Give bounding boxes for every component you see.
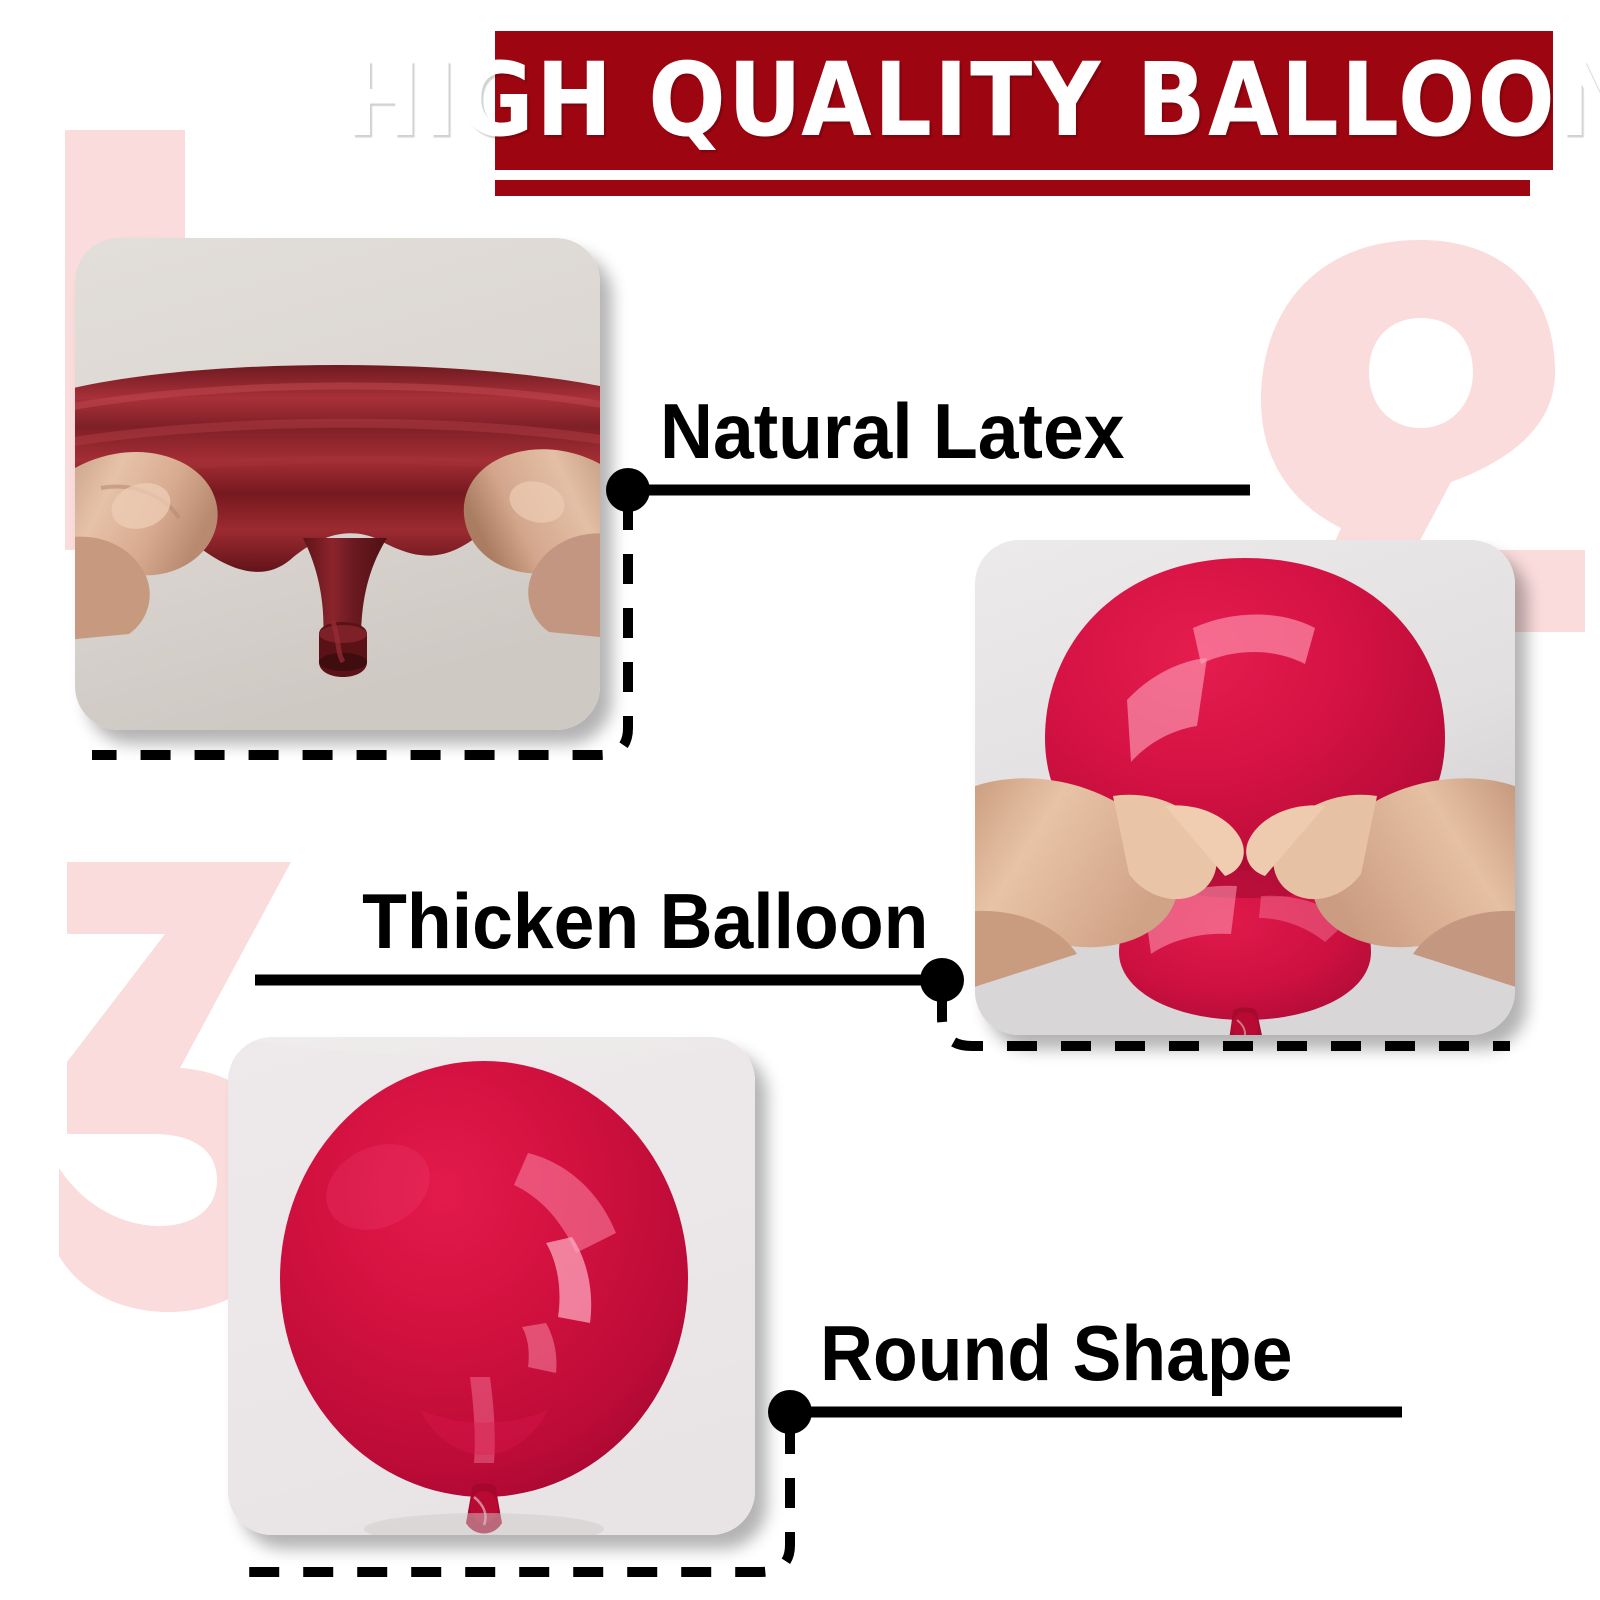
banner-title: HIGH QUALITY BALLOONS [345, 50, 1600, 151]
feature-label-2-text: Thicken Balloon [362, 882, 928, 960]
feature-label-3: Round Shape [820, 1314, 1323, 1392]
squeezed-balloon-photo [975, 540, 1515, 1035]
round-balloon-photo [228, 1037, 755, 1535]
stretched-latex-photo [75, 238, 600, 730]
connector-dot-3 [768, 1390, 812, 1434]
banner-underline-stripe [495, 180, 1530, 196]
infographic-canvas: HIGH QUALITY BALLOONS [0, 0, 1600, 1600]
feature-label-1: Natural Latex [660, 392, 1154, 470]
connector-dot-1 [606, 468, 650, 512]
feature-label-1-text: Natural Latex [660, 392, 1125, 470]
header-banner: HIGH QUALITY BALLOONS [495, 31, 1553, 170]
feature-label-3-text: Round Shape [820, 1314, 1293, 1392]
